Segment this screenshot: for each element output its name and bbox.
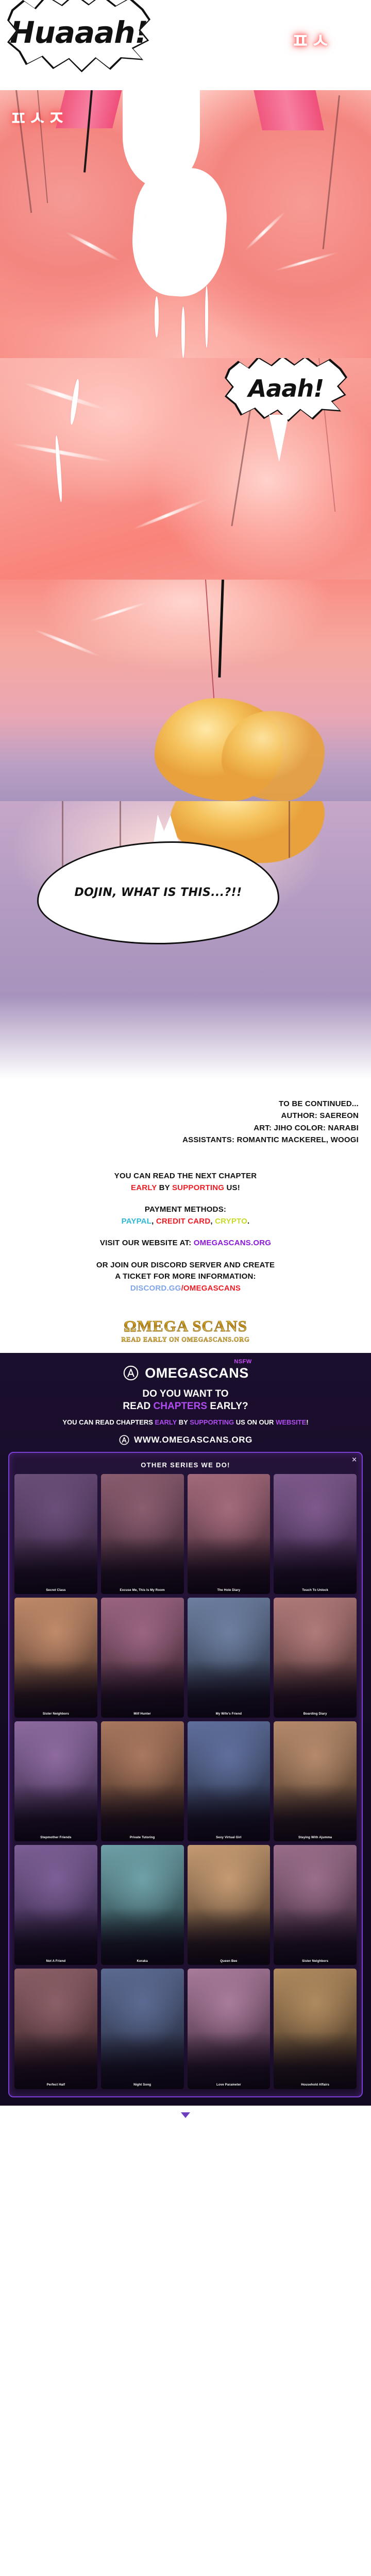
nsfw-badge: NSFW bbox=[234, 1359, 251, 1365]
ad-headline-2b: CHAPTERS bbox=[154, 1401, 208, 1412]
omegascans-ad-banner: OMEGASCANS NSFW DO YOU WANT TO READ CHAP… bbox=[0, 1353, 371, 2106]
omega-symbol-icon: Ω bbox=[124, 1317, 137, 1335]
sfx-balloon-aaah: Aaah! bbox=[227, 358, 345, 420]
series-card[interactable]: Touch To Unlock bbox=[274, 1474, 357, 1594]
series-card[interactable]: Staying With Ajumma bbox=[274, 1721, 357, 1841]
series-cover-gradient bbox=[101, 1660, 184, 1718]
series-card[interactable]: Queen Bee bbox=[188, 1845, 271, 1965]
ad-brand-name: OMEGASCANS NSFW bbox=[145, 1365, 249, 1381]
comic-panel-2: ㅍㅅㅈ bbox=[0, 90, 371, 358]
comic-panel-4 bbox=[0, 580, 371, 801]
series-cover-gradient bbox=[101, 1784, 184, 1841]
series-cover-gradient bbox=[101, 2031, 184, 2089]
series-card[interactable]: Not A Friend bbox=[14, 1845, 97, 1965]
ad-sub-c: BY bbox=[177, 1418, 190, 1426]
sfx-text-huaaah: Huaaah! bbox=[9, 0, 148, 71]
discord-host-link[interactable]: DISCORD.GG bbox=[130, 1284, 181, 1293]
ad-headline: DO YOU WANT TO READ CHAPTERS EARLY? bbox=[11, 1388, 360, 1413]
website-url-link[interactable]: OMEGASCANS.ORG bbox=[194, 1239, 271, 1247]
series-cover-gradient bbox=[274, 1908, 357, 1965]
series-title-label: Staying With Ajumma bbox=[275, 1836, 355, 1839]
series-cover-gradient bbox=[14, 1784, 97, 1841]
series-cover-gradient bbox=[274, 1784, 357, 1841]
series-card[interactable]: Private Tutoring bbox=[101, 1721, 184, 1841]
ad-bottom-padding bbox=[0, 2097, 371, 2106]
credit-author: AUTHOR: SAEREON bbox=[12, 1110, 359, 1122]
discord-line-2: A TICKET FOR MORE INFORMATION: bbox=[115, 1272, 256, 1281]
ad-sub-e: US ON OUR bbox=[234, 1418, 276, 1426]
series-cover-gradient bbox=[14, 1660, 97, 1718]
series-cover-gradient bbox=[101, 1908, 184, 1965]
series-card[interactable]: Excuse Me, This Is My Room bbox=[101, 1474, 184, 1594]
ad-url-text[interactable]: WWW.OMEGASCANS.ORG bbox=[134, 1435, 252, 1445]
series-card[interactable]: The Hole Diary bbox=[188, 1474, 271, 1594]
panel-art-hair bbox=[222, 711, 325, 801]
ad-headline-2c: EARLY? bbox=[207, 1401, 248, 1412]
series-card[interactable]: Sexy Virtual Girl bbox=[188, 1721, 271, 1841]
series-cover-gradient bbox=[274, 2031, 357, 2089]
series-title-label: Boarding Diary bbox=[275, 1712, 355, 1716]
payment-sep-1: , bbox=[151, 1217, 156, 1226]
series-grid: Secret ClassExcuse Me, This Is My RoomTh… bbox=[14, 1474, 357, 2089]
ad-sub-g: ! bbox=[306, 1418, 308, 1426]
series-title-label: Stepmother Friends bbox=[16, 1836, 96, 1839]
promo-block: YOU CAN READ THE NEXT CHAPTER EARLY BY S… bbox=[0, 1153, 371, 1310]
credits-block: TO BE CONTINUED... AUTHOR: SAEREON ART: … bbox=[0, 1079, 371, 1153]
panel-art-droplet bbox=[155, 296, 159, 337]
payment-sep-2: , bbox=[210, 1217, 215, 1226]
series-card[interactable]: Sister Neighbors bbox=[14, 1598, 97, 1718]
series-title-label: Keraka bbox=[103, 1959, 182, 1963]
other-series-panel: × OTHER SERIES WE DO! Secret ClassExcuse… bbox=[8, 1452, 363, 2097]
payment-credit-card: CREDIT CARD bbox=[156, 1217, 211, 1226]
payment-paypal: PAYPAL bbox=[122, 1217, 151, 1226]
panel-art-line bbox=[289, 801, 290, 858]
series-cover-gradient bbox=[188, 1784, 271, 1841]
series-title-label: Milf Hunter bbox=[103, 1712, 182, 1716]
series-title-label: Secret Class bbox=[16, 1588, 96, 1592]
series-title-label: Love Parameter bbox=[189, 2083, 269, 2087]
discord-line-1: OR JOIN OUR DISCORD SERVER AND CREATE bbox=[96, 1261, 275, 1269]
next-chapter-line1: YOU CAN READ THE NEXT CHAPTER bbox=[114, 1172, 257, 1180]
panel-art-droplet bbox=[205, 286, 208, 348]
series-cover-gradient bbox=[14, 1536, 97, 1594]
series-title-label: Night Song bbox=[103, 2083, 182, 2087]
series-cover-gradient bbox=[101, 1536, 184, 1594]
sfx-balloon-huaaah: Huaaah! bbox=[9, 0, 148, 71]
series-card[interactable]: Secret Class bbox=[14, 1474, 97, 1594]
ad-sub-b: EARLY bbox=[155, 1418, 177, 1426]
webtoon-page: Huaaah! ㅍㅅ ㅍㅅㅈ Aaah! bbox=[0, 0, 371, 2125]
ad-sub-a: YOU CAN READ CHAPTERS bbox=[62, 1418, 155, 1426]
next-chapter-early: EARLY bbox=[131, 1183, 157, 1192]
series-title-label: Household Affairs bbox=[275, 2083, 355, 2087]
series-title-label: My Wife's Friend bbox=[189, 1712, 269, 1716]
series-title-label: Sister Neighbors bbox=[16, 1712, 96, 1716]
panel-art-garment-right bbox=[253, 90, 324, 130]
series-title-label: Private Tutoring bbox=[103, 1836, 182, 1839]
series-card[interactable]: Night Song bbox=[101, 1969, 184, 2089]
dialog-text-dojin: DOJIN, WHAT IS THIS...?!! bbox=[74, 887, 242, 900]
series-cover-gradient bbox=[14, 1908, 97, 1965]
series-card[interactable]: Household Affairs bbox=[274, 1969, 357, 2089]
series-card[interactable]: Love Parameter bbox=[188, 1969, 271, 2089]
series-title-label: Sister Neighbors bbox=[275, 1959, 355, 1963]
comic-panel-5: DOJIN, WHAT IS THIS...?!! bbox=[0, 801, 371, 1079]
credit-assistants: ASSISTANTS: ROMANTIC MACKEREL, WOOGI bbox=[12, 1134, 359, 1146]
sfx-glow-mark-1: ㅍㅅ bbox=[291, 32, 331, 51]
next-chapter-promo: YOU CAN READ THE NEXT CHAPTER EARLY BY S… bbox=[9, 1171, 362, 1194]
close-icon[interactable]: × bbox=[351, 1456, 357, 1464]
series-cover-gradient bbox=[14, 2031, 97, 2089]
series-card[interactable]: Keraka bbox=[101, 1845, 184, 1965]
series-cover-gradient bbox=[188, 2031, 271, 2089]
credit-art-color: ART: JIHO COLOR: NARABI bbox=[12, 1122, 359, 1134]
ad-copy: DO YOU WANT TO READ CHAPTERS EARLY? YOU … bbox=[0, 1383, 371, 1428]
payment-heading: PAYMENT METHODS: bbox=[145, 1205, 226, 1214]
series-card[interactable]: Boarding Diary bbox=[274, 1598, 357, 1718]
gold-logo-row: ΩMEGA SCANS bbox=[0, 1317, 371, 1335]
series-title-label: Queen Bee bbox=[189, 1959, 269, 1963]
ad-sub-f: WEBSITE bbox=[276, 1418, 306, 1426]
ad-brand-text: OMEGASCANS bbox=[145, 1365, 249, 1381]
series-card[interactable]: Stepmother Friends bbox=[14, 1721, 97, 1841]
gold-logo-banner: ΩMEGA SCANS READ EARLY ON OMEGASCANS.ORG bbox=[0, 1310, 371, 1353]
ad-brand-row: OMEGASCANS NSFW bbox=[0, 1362, 371, 1383]
next-chapter-by: BY bbox=[157, 1183, 172, 1192]
payment-crypto: CRYPTO bbox=[215, 1217, 247, 1226]
payment-methods: PAYMENT METHODS: PAYPAL, CREDIT CARD, CR… bbox=[9, 1204, 362, 1227]
series-title-label: Not A Friend bbox=[16, 1959, 96, 1963]
panel-art-droplet bbox=[181, 307, 185, 358]
series-title-label: The Hole Diary bbox=[189, 1588, 269, 1592]
sfx-text-aaah: Aaah! bbox=[227, 358, 345, 420]
series-cover-gradient bbox=[274, 1660, 357, 1718]
series-card[interactable]: My Wife's Friend bbox=[188, 1598, 271, 1718]
ad-headline-1: DO YOU WANT TO bbox=[142, 1388, 228, 1399]
ad-subline: YOU CAN READ CHAPTERS EARLY BY SUPPORTIN… bbox=[11, 1417, 360, 1428]
gold-logo-subtitle: READ EARLY ON OMEGASCANS.ORG bbox=[0, 1336, 371, 1344]
series-cover-gradient bbox=[188, 1536, 271, 1594]
comic-panel-1: Huaaah! ㅍㅅ bbox=[0, 0, 371, 90]
gold-logo-title: MEGA SCANS bbox=[137, 1317, 247, 1335]
series-title-label: Touch To Unlock bbox=[275, 1588, 355, 1592]
visit-label: VISIT OUR WEBSITE AT: bbox=[100, 1239, 194, 1247]
to-be-continued: TO BE CONTINUED... bbox=[12, 1098, 359, 1110]
series-title-label: Perfect Half bbox=[16, 2083, 96, 2087]
next-chapter-us: US! bbox=[224, 1183, 240, 1192]
series-card[interactable]: Milf Hunter bbox=[101, 1598, 184, 1718]
discord-block: OR JOIN OUR DISCORD SERVER AND CREATE A … bbox=[9, 1260, 362, 1295]
chevron-up-icon[interactable] bbox=[181, 2112, 190, 2118]
omega-logo-icon bbox=[122, 1364, 140, 1382]
ad-sub-d: SUPPORTING bbox=[190, 1418, 234, 1426]
series-card[interactable]: Perfect Half bbox=[14, 1969, 97, 2089]
series-cover-gradient bbox=[188, 1660, 271, 1718]
omega-small-icon bbox=[119, 1434, 130, 1446]
series-title-label: Excuse Me, This Is My Room bbox=[103, 1588, 182, 1592]
series-card[interactable]: Sister Neighbors bbox=[274, 1845, 357, 1965]
series-cover-gradient bbox=[188, 1908, 271, 1965]
comic-panel-3: Aaah! bbox=[0, 358, 371, 580]
scroll-to-top-bar[interactable] bbox=[0, 2106, 371, 2125]
payment-dot: . bbox=[247, 1217, 249, 1226]
ad-website-link[interactable]: WWW.OMEGASCANS.ORG bbox=[0, 1434, 371, 1452]
discord-path-link[interactable]: /OMEGASCANS bbox=[181, 1284, 241, 1293]
visit-website-line: VISIT OUR WEBSITE AT: OMEGASCANS.ORG bbox=[9, 1238, 362, 1249]
ad-headline-2a: READ bbox=[123, 1401, 153, 1412]
series-title-label: Sexy Virtual Girl bbox=[189, 1836, 269, 1839]
next-chapter-supporting: SUPPORTING bbox=[172, 1183, 224, 1192]
panel-art-line bbox=[62, 801, 63, 873]
series-cover-gradient bbox=[274, 1536, 357, 1594]
other-series-title: OTHER SERIES WE DO! bbox=[14, 1458, 357, 1474]
